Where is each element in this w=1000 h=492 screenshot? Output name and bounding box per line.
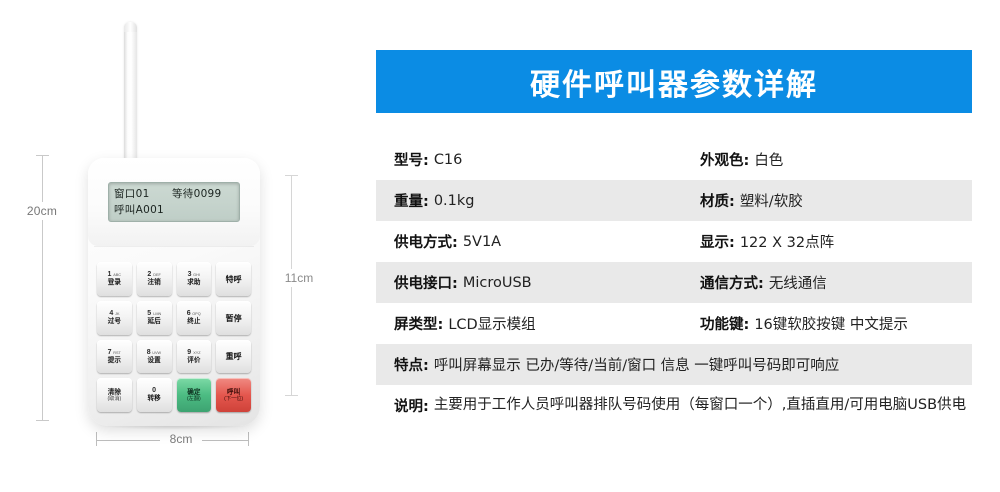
key-label: 暂停 xyxy=(226,314,242,323)
product-photo-pane: 20cm 11cm 8cm 窗口01 等待0099 呼叫A001 1ABC登录2… xyxy=(0,0,350,492)
spec-left-key: 供电方式: xyxy=(394,231,458,252)
key-latin-letters: XYZ xyxy=(193,351,200,355)
key-label: 特呼 xyxy=(226,275,242,284)
note-key-cell: 说明:主要用于工作人员呼叫器排队号码使用（每窗口一个）,直插直用/可用电脑USB… xyxy=(376,385,972,443)
key-number: 7 xyxy=(108,349,112,356)
lcd-screen: 窗口01 等待0099 呼叫A001 xyxy=(108,182,240,222)
feature-key-cell: 特点:呼叫屏幕显示 已办/等待/当前/窗口 信息 一键呼叫号码即可响应 xyxy=(376,344,972,385)
note-key: 说明: xyxy=(394,395,429,416)
key-label: 求助 xyxy=(187,279,200,287)
key-number-row: 8UVW xyxy=(147,349,162,356)
spec-left-value: 0.1kg xyxy=(434,193,475,209)
spec-right-key: 通信方式: xyxy=(700,272,764,293)
depth-dimension-tick-top xyxy=(285,175,298,176)
key-4[interactable]: 4JK过号 xyxy=(97,301,132,335)
spec-row: 型号:C16外观色:白色 xyxy=(376,139,972,180)
height-dimension-tick-top xyxy=(36,155,49,156)
key-latin-letters: JK xyxy=(115,312,119,316)
spec-left-key-cell: 重量:0.1kg xyxy=(376,180,682,221)
key-0[interactable]: 0转移 xyxy=(137,378,172,412)
key-latin-letters: ABC xyxy=(113,273,121,277)
height-dimension-line xyxy=(42,155,43,420)
key-latin-letters: OPQ xyxy=(192,312,200,316)
feature-value: 呼叫屏幕显示 已办/等待/当前/窗口 信息 一键呼叫号码即可响应 xyxy=(434,354,839,375)
device-seam-line xyxy=(94,246,254,247)
spec-left-key: 型号: xyxy=(394,149,429,170)
spec-right-key-cell: 功能键:16键软胶按键 中文提示 xyxy=(682,303,972,344)
key-number-row: 4JK xyxy=(109,310,119,317)
key-重呼[interactable]: 重呼 xyxy=(216,340,251,374)
spec-right-key: 外观色: xyxy=(700,149,749,170)
key-number: 4 xyxy=(109,310,113,317)
key-5[interactable]: 5LMN延后 xyxy=(137,301,172,335)
caller-device: 窗口01 等待0099 呼叫A001 1ABC登录2DEF注销3GHI求助特呼4… xyxy=(88,158,260,426)
feature-key: 特点: xyxy=(394,354,429,375)
key-number: 6 xyxy=(187,310,191,317)
spec-left-value: 5V1A xyxy=(463,234,501,250)
key-latin-letters: GHI xyxy=(193,273,200,277)
spec-right-key-cell: 材质:塑料/软胶 xyxy=(682,180,972,221)
antenna xyxy=(124,22,137,174)
key-latin-letters: LMN xyxy=(153,312,161,316)
key-清除[interactable]: 清除(取消) xyxy=(97,378,132,412)
key-1[interactable]: 1ABC登录 xyxy=(97,262,132,296)
note-value: 主要用于工作人员呼叫器排队号码使用（每窗口一个）,直插直用/可用电脑USB供电 xyxy=(434,395,966,417)
key-label: 转移 xyxy=(148,395,161,403)
key-暂停[interactable]: 暂停 xyxy=(216,301,251,335)
depth-dimension-tick-bottom xyxy=(285,395,298,396)
width-dimension-label: 8cm xyxy=(160,432,202,446)
key-label: 过号 xyxy=(108,318,121,326)
spec-right-key: 功能键: xyxy=(700,313,749,334)
spec-right-value: 无线通信 xyxy=(769,272,827,293)
key-2[interactable]: 2DEF注销 xyxy=(137,262,172,296)
spec-right-key-cell: 外观色:白色 xyxy=(682,139,972,180)
antenna-tip xyxy=(124,22,137,32)
spec-table: 型号:C16外观色:白色重量:0.1kg材质:塑料/软胶供电方式:5V1A显示:… xyxy=(376,139,972,443)
key-number-row: 6OPQ xyxy=(187,310,201,317)
key-number: 8 xyxy=(147,349,151,356)
key-6[interactable]: 6OPQ终止 xyxy=(177,301,212,335)
key-number: 9 xyxy=(187,349,191,356)
key-特呼[interactable]: 特呼 xyxy=(216,262,251,296)
key-number-row: 7RST xyxy=(108,349,121,356)
key-sublabel: (下一位) xyxy=(224,397,243,403)
key-8[interactable]: 8UVW设置 xyxy=(137,340,172,374)
spec-title-banner: 硬件呼叫器参数详解 xyxy=(376,50,972,113)
key-label: 设置 xyxy=(148,357,161,365)
height-dimension-tick-bottom xyxy=(36,420,49,421)
spec-left-value: MicroUSB xyxy=(463,275,532,291)
spec-left-key: 供电接口: xyxy=(394,272,458,293)
key-label: 提示 xyxy=(108,357,121,365)
spec-left-key-cell: 供电方式:5V1A xyxy=(376,221,682,262)
spec-right-value: 白色 xyxy=(754,149,783,170)
lcd-line-2: 呼叫A001 xyxy=(114,202,234,218)
key-label: 登录 xyxy=(108,279,121,287)
spec-right-value: 122 X 32点阵 xyxy=(740,231,834,252)
key-number: 5 xyxy=(147,310,151,317)
product-spec-page: 20cm 11cm 8cm 窗口01 等待0099 呼叫A001 1ABC登录2… xyxy=(0,0,1000,492)
spec-right-key: 显示: xyxy=(700,231,735,252)
key-9[interactable]: 9XYZ评价 xyxy=(177,340,212,374)
key-sublabel: (左翻) xyxy=(187,397,201,403)
lcd-waiting-text: 等待0099 xyxy=(172,186,222,202)
spec-row: 屏类型:LCD显示模组功能键:16键软胶按键 中文提示 xyxy=(376,303,972,344)
spec-row: 供电方式:5V1A显示:122 X 32点阵 xyxy=(376,221,972,262)
spec-right-key-cell: 显示:122 X 32点阵 xyxy=(682,221,972,262)
key-确定[interactable]: 确定(左翻) xyxy=(177,378,212,412)
spec-right-value: 16键软胶按键 中文提示 xyxy=(754,313,908,334)
key-呼叫[interactable]: 呼叫(下一位) xyxy=(216,378,251,412)
spec-right-key: 材质: xyxy=(700,190,735,211)
keypad[interactable]: 1ABC登录2DEF注销3GHI求助特呼4JK过号5LMN延后6OPQ终止暂停7… xyxy=(97,262,251,412)
spec-row-feature: 特点:呼叫屏幕显示 已办/等待/当前/窗口 信息 一键呼叫号码即可响应 xyxy=(376,344,972,385)
key-7[interactable]: 7RST提示 xyxy=(97,340,132,374)
key-label: 评价 xyxy=(187,357,200,365)
lcd-window-text: 窗口01 xyxy=(114,186,172,202)
spec-left-key: 重量: xyxy=(394,190,429,211)
spec-left-value: C16 xyxy=(434,152,463,168)
spec-left-key-cell: 屏类型:LCD显示模组 xyxy=(376,303,682,344)
key-number-row: 5LMN xyxy=(147,310,161,317)
spec-left-value: LCD显示模组 xyxy=(448,313,535,334)
spec-left-key-cell: 型号:C16 xyxy=(376,139,682,180)
height-dimension-label: 20cm xyxy=(12,202,72,220)
key-label: 延后 xyxy=(148,318,161,326)
spec-row: 供电接口:MicroUSB通信方式:无线通信 xyxy=(376,262,972,303)
width-dimension-tick-left xyxy=(96,432,97,446)
key-latin-letters: UVW xyxy=(152,351,161,355)
key-label: 重呼 xyxy=(226,352,242,361)
depth-dimension-label: 11cm xyxy=(276,269,322,287)
key-label: 注销 xyxy=(148,279,161,287)
spec-left-key: 屏类型: xyxy=(394,313,443,334)
key-sublabel: (取消) xyxy=(107,397,121,403)
key-label: 终止 xyxy=(187,318,200,326)
lcd-line-1: 窗口01 等待0099 xyxy=(114,186,234,202)
page-title: 硬件呼叫器参数详解 xyxy=(530,60,818,104)
spec-right-value: 塑料/软胶 xyxy=(740,190,803,211)
key-latin-letters: RST xyxy=(113,351,121,355)
spec-left-key-cell: 供电接口:MicroUSB xyxy=(376,262,682,303)
spec-pane: 硬件呼叫器参数详解 型号:C16外观色:白色重量:0.1kg材质:塑料/软胶供电… xyxy=(376,0,974,492)
spec-right-key-cell: 通信方式:无线通信 xyxy=(682,262,972,303)
spec-row: 重量:0.1kg材质:塑料/软胶 xyxy=(376,180,972,221)
key-number-row: 9XYZ xyxy=(187,349,200,356)
spec-row-note: 说明:主要用于工作人员呼叫器排队号码使用（每窗口一个）,直插直用/可用电脑USB… xyxy=(376,385,972,443)
key-3[interactable]: 3GHI求助 xyxy=(177,262,212,296)
key-latin-letters: DEF xyxy=(153,273,161,277)
width-dimension-tick-right xyxy=(248,432,249,446)
